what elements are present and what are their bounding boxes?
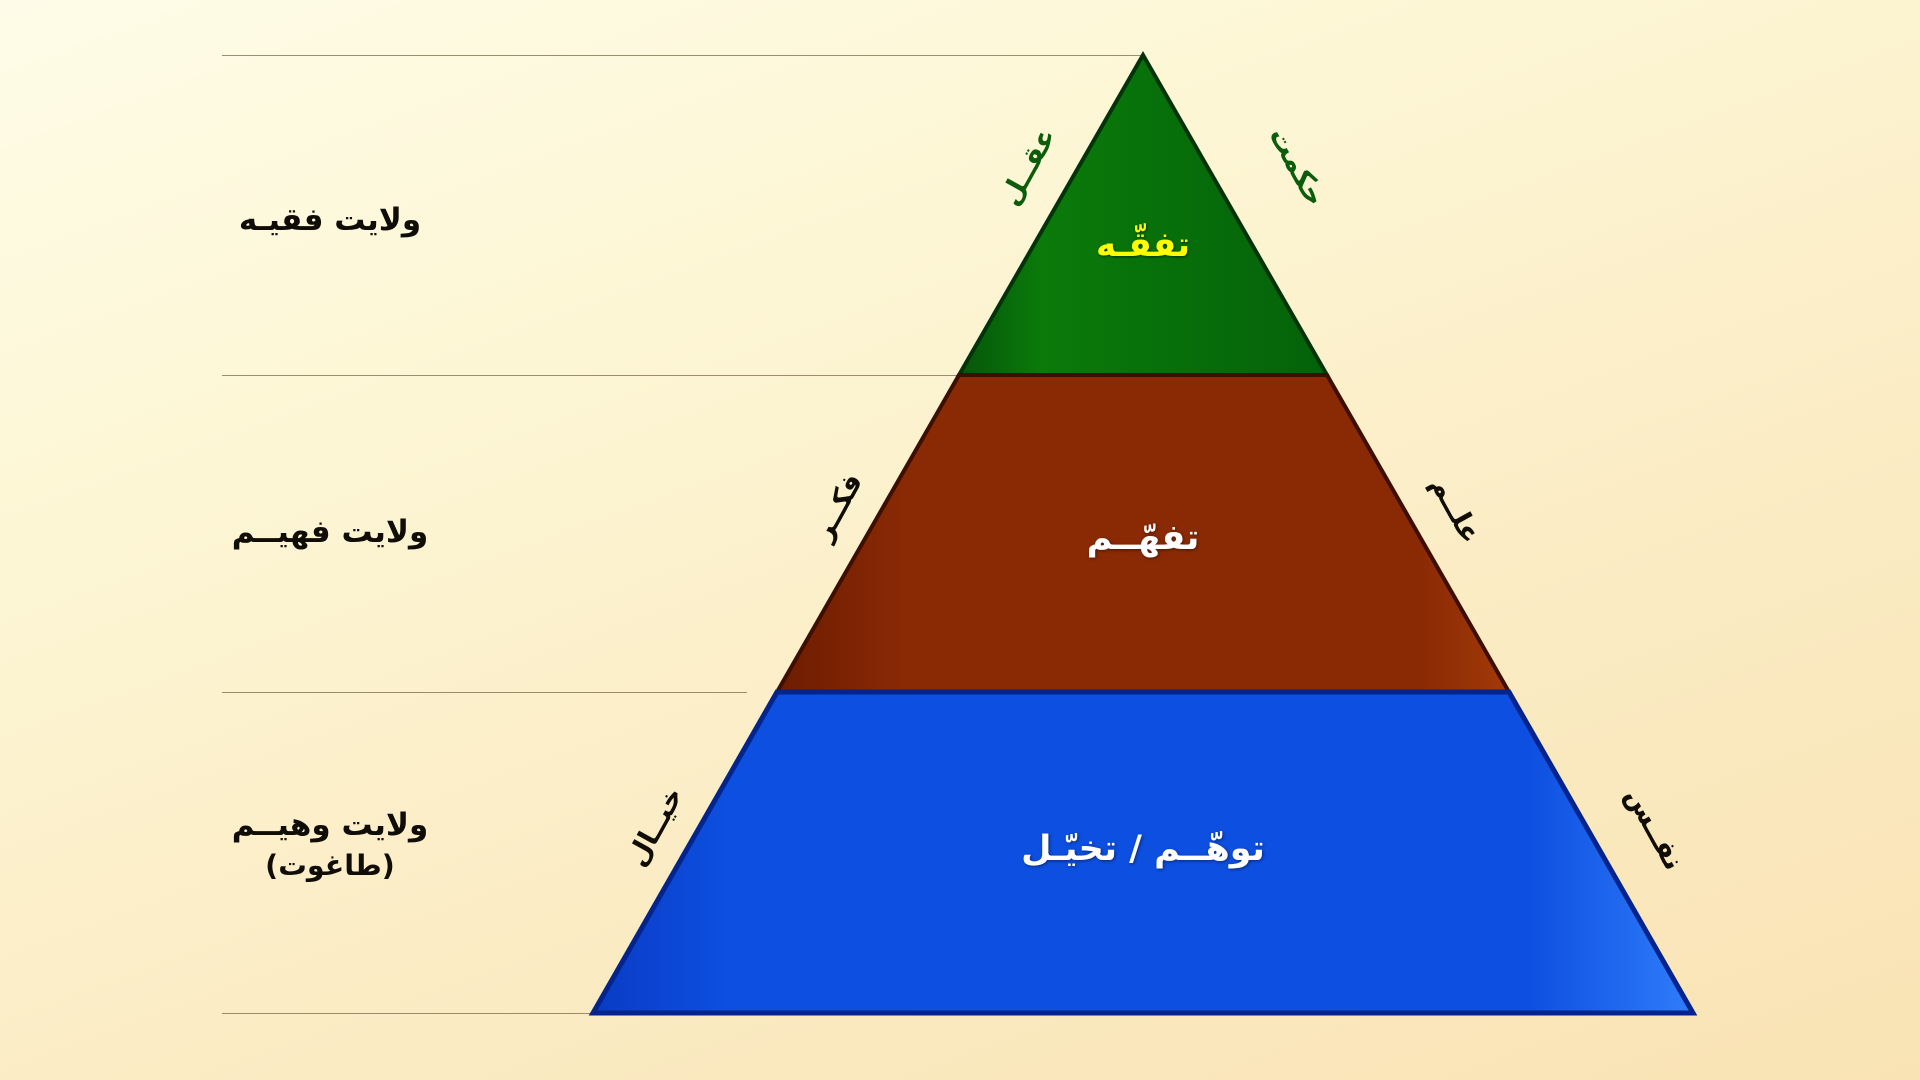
tier-center-label-top: تفقّـه (1043, 223, 1243, 269)
tier-shape-top (959, 55, 1327, 375)
diagram-canvas: ولایت فقیـه ولایت فهیــم ولایت وهیــم (ط… (0, 0, 1920, 1080)
tier-left-label-bottom-text: ولایت وهیــم (232, 807, 429, 843)
tier-left-label-middle-text: ولایت فهیــم (232, 514, 429, 550)
tier-left-label-top: ولایت فقیـه (200, 200, 460, 242)
tier-left-label-middle: ولایت فهیــم (200, 512, 460, 554)
tier-center-label-bottom: توهّــم / تخیّـل (993, 826, 1293, 873)
tier-center-label-bottom-text: توهّــم / تخیّـل (1021, 829, 1265, 869)
tier-center-label-top-text: تفقّـه (1096, 225, 1190, 265)
tier-center-label-middle-text: تفهّــم (1087, 518, 1200, 558)
tier-left-sublabel-bottom-text: (طاغوت) (200, 847, 460, 885)
tier-left-label-top-text: ولایت فقیـه (239, 202, 421, 238)
tier-left-label-bottom: ولایت وهیــم (طاغوت) (200, 805, 460, 885)
tier-center-label-middle: تفهّــم (1043, 515, 1243, 562)
